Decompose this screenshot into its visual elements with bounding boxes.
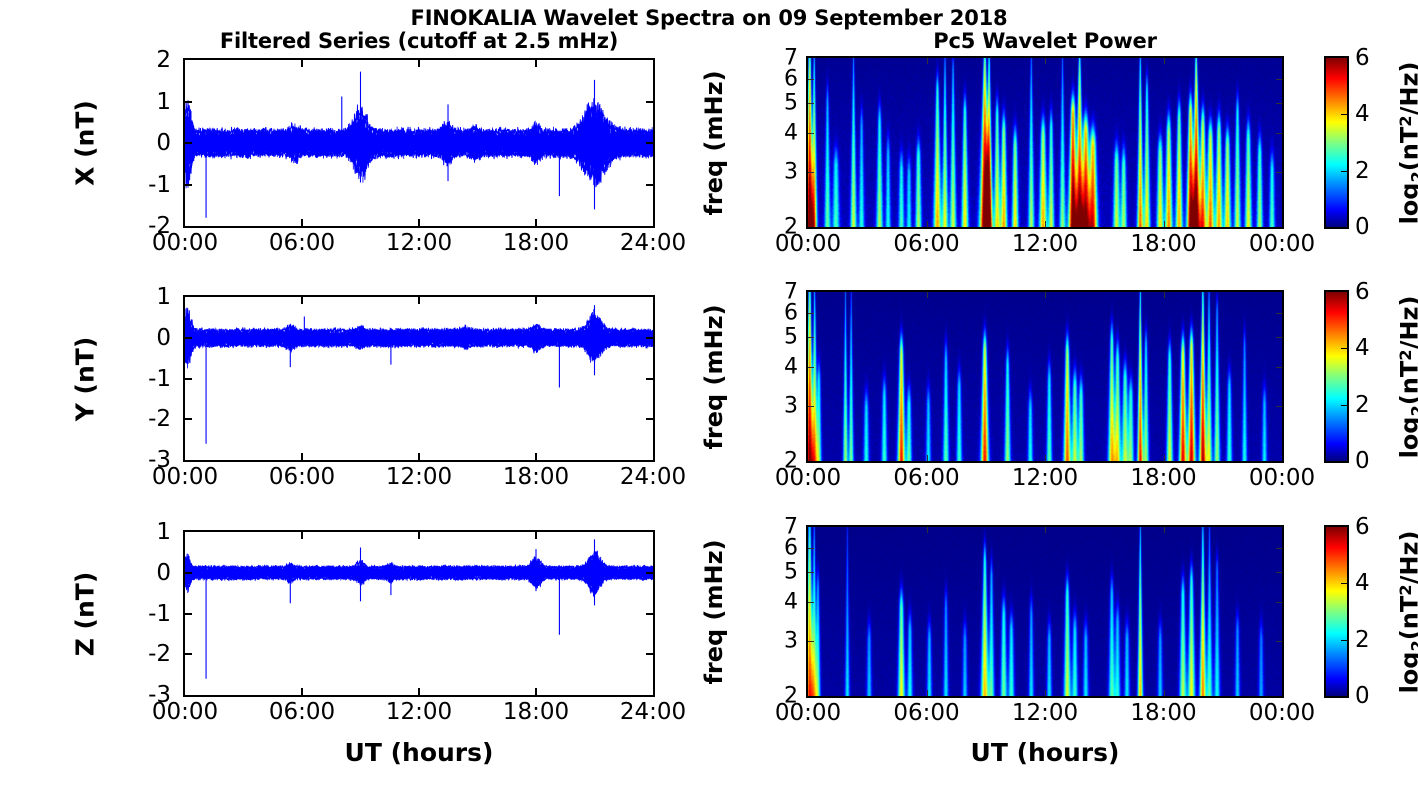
x-tick-label: 00:00 — [152, 230, 218, 256]
colorbar-tick-label: 0 — [1355, 683, 1370, 709]
x-tick — [301, 688, 303, 695]
y-tick — [1276, 367, 1282, 368]
x-tick-label: 00:00 — [152, 699, 218, 725]
y-tick-label: 0 — [111, 325, 171, 351]
timeseries-ylabel-z: Z (nT) — [71, 571, 100, 656]
x-tick — [418, 60, 420, 67]
spectrogram-axes-y — [806, 290, 1284, 463]
x-tick — [535, 688, 537, 695]
y-tick — [808, 313, 814, 314]
x-tick — [1045, 58, 1046, 64]
y-tick — [808, 641, 814, 642]
y-tick — [808, 79, 814, 80]
y-tick — [185, 142, 192, 144]
spectrogram-image — [808, 527, 1282, 696]
x-tick-label: 24:00 — [620, 230, 686, 256]
y-tick — [808, 337, 814, 338]
x-tick-label: 00:00 — [775, 465, 841, 491]
y-tick — [1276, 103, 1282, 104]
figure-root: FINOKALIA Wavelet Spectra on 09 Septembe… — [0, 0, 1418, 788]
spectrogram-xlabel: UT (hours) — [971, 738, 1120, 767]
y-tick — [185, 653, 192, 655]
y-tick — [646, 613, 653, 615]
y-tick-label: 0 — [111, 130, 171, 156]
x-tick — [1164, 292, 1165, 298]
y-tick — [808, 367, 814, 368]
colorbar-tick-label: 4 — [1355, 335, 1370, 361]
y-tick — [646, 378, 653, 380]
x-tick-label: 00:00 — [1249, 231, 1315, 257]
x-tick — [535, 60, 537, 67]
x-tick — [418, 453, 420, 460]
x-tick — [927, 527, 928, 533]
x-tick — [1045, 690, 1046, 696]
colorbar-label-z: log2(nT2/Hz) — [1396, 530, 1418, 693]
timeseries-xlabel: UT (hours) — [345, 738, 494, 767]
freq-tick-label: 5 — [754, 325, 798, 350]
freq-tick-label: 4 — [754, 121, 798, 146]
timeseries-trace — [185, 60, 653, 226]
freq-tick-label: 5 — [754, 560, 798, 585]
spectrogram-ylabel-z: freq (mHz) — [700, 539, 728, 684]
y-tick — [1276, 313, 1282, 314]
x-tick-label: 00:00 — [152, 464, 218, 490]
y-tick — [646, 418, 653, 420]
freq-tick-label: 4 — [754, 355, 798, 380]
freq-tick-label: 3 — [754, 394, 798, 419]
y-tick-label: 1 — [111, 89, 171, 115]
spectrogram-image — [808, 292, 1282, 461]
y-tick — [646, 142, 653, 144]
y-tick — [185, 337, 192, 339]
x-tick-label: 06:00 — [893, 465, 959, 491]
x-tick-label: 18:00 — [503, 699, 569, 725]
x-tick-label: 00:00 — [1249, 700, 1315, 726]
colorbar-y — [1324, 290, 1349, 463]
x-tick-label: 00:00 — [775, 231, 841, 257]
x-tick — [927, 455, 928, 461]
colorbar-tick-label: 0 — [1355, 448, 1370, 474]
colorbar-tick-label: 6 — [1355, 45, 1370, 71]
y-tick — [185, 101, 192, 103]
colorbar-label-y: log2(nT2/Hz) — [1396, 295, 1418, 458]
timeseries-axes-x — [183, 58, 655, 228]
x-tick — [535, 532, 537, 539]
x-tick — [301, 60, 303, 67]
colorbar-tick — [1341, 640, 1347, 641]
colorbar-tick-label: 0 — [1355, 214, 1370, 240]
freq-tick-label: 3 — [754, 160, 798, 185]
x-tick — [927, 221, 928, 227]
x-tick-label: 00:00 — [775, 700, 841, 726]
y-tick-label: 1 — [111, 519, 171, 545]
x-tick — [301, 532, 303, 539]
x-tick-label: 24:00 — [620, 699, 686, 725]
y-tick — [646, 101, 653, 103]
x-tick — [1045, 455, 1046, 461]
colorbar-label-x: log2(nT2/Hz) — [1396, 61, 1418, 224]
x-tick — [418, 688, 420, 695]
x-tick — [418, 297, 420, 304]
y-tick — [808, 406, 814, 407]
x-tick-label: 18:00 — [1130, 700, 1196, 726]
colorbar-z — [1324, 525, 1349, 698]
x-tick-label: 18:00 — [503, 464, 569, 490]
y-tick — [1276, 133, 1282, 134]
x-tick — [1045, 527, 1046, 533]
x-tick-label: 06:00 — [893, 231, 959, 257]
x-tick — [535, 297, 537, 304]
x-tick-label: 18:00 — [503, 230, 569, 256]
colorbar-tick — [1341, 171, 1347, 172]
x-tick-label: 12:00 — [386, 699, 452, 725]
y-tick — [1276, 79, 1282, 80]
x-tick-label: 06:00 — [893, 700, 959, 726]
timeseries-plot-area — [185, 60, 653, 226]
y-tick-label: -1 — [111, 172, 171, 198]
y-tick — [808, 572, 814, 573]
x-tick-label: 00:00 — [1249, 465, 1315, 491]
y-tick — [1276, 572, 1282, 573]
timeseries-trace — [185, 297, 653, 460]
y-tick — [646, 572, 653, 574]
colorbar-tick — [1341, 114, 1347, 115]
y-tick-label: 1 — [111, 284, 171, 310]
y-tick — [185, 572, 192, 574]
colorbar-tick-label: 2 — [1355, 627, 1370, 653]
x-tick — [1164, 58, 1165, 64]
x-tick — [1045, 221, 1046, 227]
x-tick-label: 06:00 — [269, 464, 335, 490]
x-tick-label: 24:00 — [620, 464, 686, 490]
y-tick — [185, 184, 192, 186]
spectrogram-axes-z — [806, 525, 1284, 698]
x-tick-label: 18:00 — [1130, 465, 1196, 491]
freq-tick-label: 6 — [754, 535, 798, 560]
x-tick-label: 12:00 — [386, 464, 452, 490]
colorbar-tick-label: 6 — [1355, 514, 1370, 540]
y-tick-label: -1 — [111, 366, 171, 392]
x-tick — [1164, 527, 1165, 533]
spectrogram-image — [808, 58, 1282, 227]
y-tick-label: -1 — [111, 601, 171, 627]
x-tick — [301, 297, 303, 304]
x-tick-label: 12:00 — [386, 230, 452, 256]
colorbar-tick — [1341, 583, 1347, 584]
x-tick-label: 18:00 — [1130, 231, 1196, 257]
x-tick — [927, 690, 928, 696]
x-tick — [1164, 690, 1165, 696]
y-tick — [185, 613, 192, 615]
right-column-title: Pc5 Wavelet Power — [806, 29, 1284, 53]
colorbar-tick — [1341, 348, 1347, 349]
freq-tick-label: 3 — [754, 629, 798, 654]
colorbar-tick-label: 4 — [1355, 101, 1370, 127]
timeseries-trace — [185, 532, 653, 695]
x-tick — [418, 219, 420, 226]
y-tick-label: -2 — [111, 641, 171, 667]
y-tick — [808, 602, 814, 603]
x-tick-label: 12:00 — [1012, 700, 1078, 726]
y-tick — [1276, 406, 1282, 407]
timeseries-axes-y — [183, 295, 655, 462]
x-tick — [1164, 221, 1165, 227]
colorbar-tick-label: 2 — [1355, 392, 1370, 418]
timeseries-axes-z — [183, 530, 655, 697]
y-tick — [646, 653, 653, 655]
colorbar-x — [1324, 56, 1349, 229]
spectrogram-ylabel-y: freq (mHz) — [700, 304, 728, 449]
y-tick-label: 0 — [111, 560, 171, 586]
y-tick — [646, 184, 653, 186]
colorbar-tick-label: 6 — [1355, 279, 1370, 305]
y-tick — [1276, 172, 1282, 173]
y-tick-label: 2 — [111, 47, 171, 73]
x-tick — [927, 58, 928, 64]
colorbar-tick-label: 2 — [1355, 158, 1370, 184]
colorbar-tick-label: 4 — [1355, 570, 1370, 596]
y-tick — [808, 103, 814, 104]
x-tick — [301, 453, 303, 460]
timeseries-plot-area — [185, 532, 653, 695]
x-tick-label: 06:00 — [269, 699, 335, 725]
x-tick-label: 12:00 — [1012, 231, 1078, 257]
spectrogram-ylabel-x: freq (mHz) — [700, 70, 728, 215]
x-tick — [535, 219, 537, 226]
freq-tick-label: 6 — [754, 300, 798, 325]
freq-tick-label: 4 — [754, 590, 798, 615]
freq-tick-label: 6 — [754, 66, 798, 91]
x-tick-label: 12:00 — [1012, 465, 1078, 491]
y-tick-label: -2 — [111, 406, 171, 432]
x-tick — [418, 532, 420, 539]
left-column-title: Filtered Series (cutoff at 2.5 mHz) — [183, 29, 655, 53]
colorbar-tick — [1341, 405, 1347, 406]
y-tick — [808, 548, 814, 549]
y-tick — [1276, 337, 1282, 338]
y-tick — [1276, 641, 1282, 642]
y-tick — [185, 378, 192, 380]
timeseries-ylabel-y: Y (nT) — [71, 336, 100, 421]
x-tick — [1045, 292, 1046, 298]
y-tick — [646, 337, 653, 339]
x-tick-label: 06:00 — [269, 230, 335, 256]
spectrogram-axes-x — [806, 56, 1284, 229]
x-tick — [1164, 455, 1165, 461]
freq-tick-label: 5 — [754, 91, 798, 116]
y-tick — [808, 133, 814, 134]
timeseries-ylabel-x: X (nT) — [71, 100, 100, 186]
x-tick — [535, 453, 537, 460]
y-tick — [1276, 602, 1282, 603]
x-tick — [301, 219, 303, 226]
figure-suptitle: FINOKALIA Wavelet Spectra on 09 Septembe… — [0, 6, 1418, 30]
y-tick — [808, 172, 814, 173]
y-tick — [1276, 548, 1282, 549]
timeseries-plot-area — [185, 297, 653, 460]
y-tick — [185, 418, 192, 420]
x-tick — [927, 292, 928, 298]
